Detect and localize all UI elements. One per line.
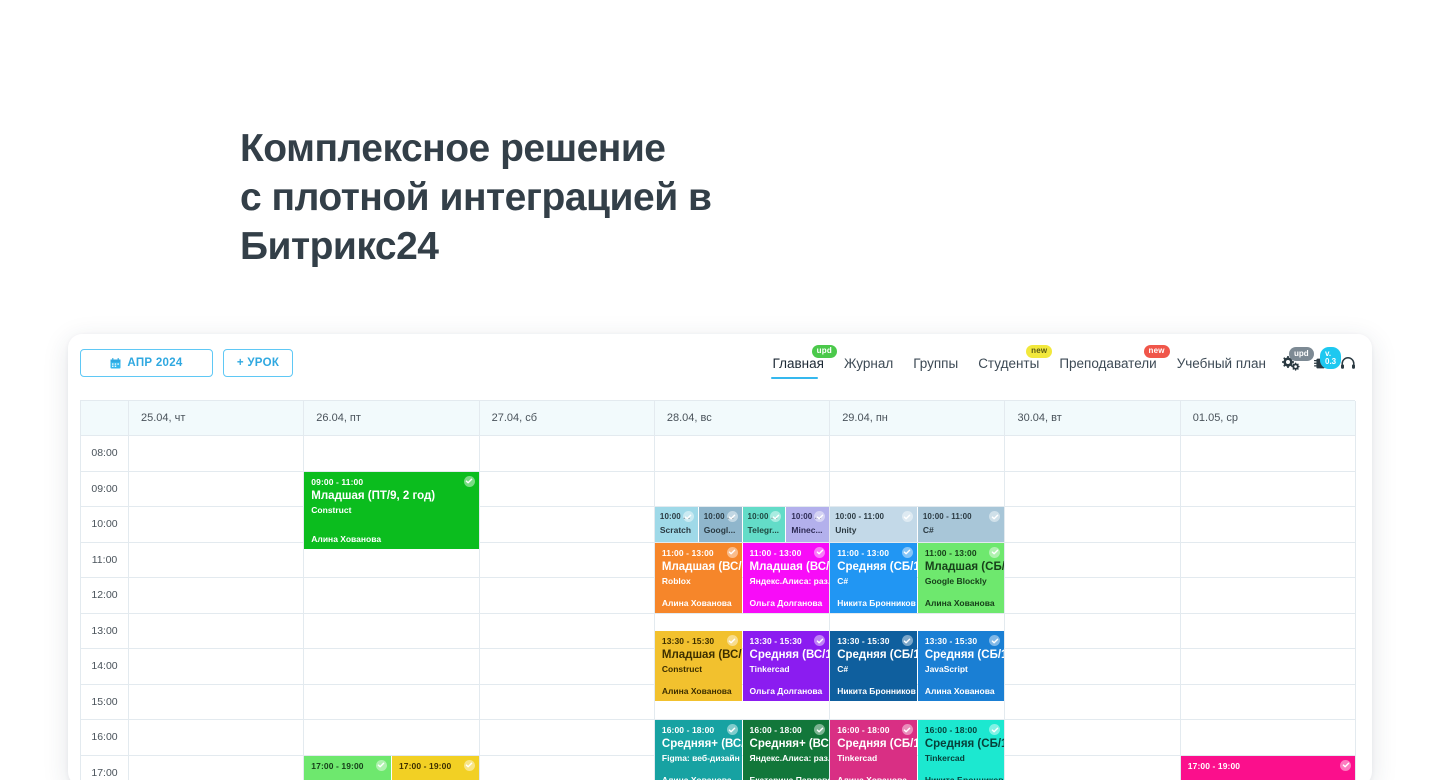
event-teacher: Алина Хованова	[662, 686, 735, 697]
calendar-slot[interactable]	[480, 543, 655, 579]
event-confirmed-check-icon[interactable]	[683, 511, 694, 522]
event-time: 13:30 - 15:30	[750, 636, 823, 647]
event-course: JavaScript	[925, 663, 998, 675]
event-course: Tinkercad	[925, 752, 998, 764]
event-confirmed-check-icon[interactable]	[814, 547, 825, 558]
event-time: 16:00 - 18:00	[750, 725, 823, 736]
calendar-event[interactable]: 10:00 - 11:00Unity	[830, 507, 917, 542]
event-group: Средняя (СБ/1...	[837, 737, 910, 752]
day-column-header-5[interactable]: 29.04, пн	[830, 401, 1005, 436]
time-label: 12:00	[81, 578, 129, 614]
nav-item-label: Преподаватели	[1059, 356, 1156, 371]
event-course: Яндекс.Алиса: раз...	[750, 752, 823, 764]
event-confirmed-check-icon[interactable]	[464, 476, 475, 487]
calendar-slot[interactable]	[480, 578, 655, 614]
nav-item-2[interactable]: Журнал	[834, 348, 903, 378]
page-title-line-2: с плотной интеграцией в	[240, 173, 860, 222]
event-confirmed-check-icon[interactable]	[727, 511, 738, 522]
calendar-row: 08:00	[81, 436, 1355, 472]
calendar-slot[interactable]	[830, 436, 1005, 472]
event-confirmed-check-icon[interactable]	[814, 724, 825, 735]
time-label: 13:00	[81, 614, 129, 650]
day-column-label: 27.04, сб	[492, 412, 537, 424]
calendar-slot[interactable]	[1005, 436, 1180, 472]
event-teacher: Никита Бронников	[837, 686, 910, 697]
nav-item-5[interactable]: Преподавателиnew	[1049, 348, 1166, 378]
event-confirmed-check-icon[interactable]	[1340, 760, 1351, 771]
calendar-slot[interactable]	[1005, 649, 1180, 685]
calendar-event[interactable]: 13:30 - 15:30Младшая (ВС/...ConstructАли…	[655, 631, 742, 701]
event-teacher: Екатерина Павлова	[750, 775, 823, 780]
event-teacher: Алина Хованова	[925, 686, 998, 697]
calendar-slot[interactable]	[304, 614, 479, 650]
add-lesson-button[interactable]: + УРОК	[223, 349, 293, 377]
event-course: Яндекс.Алиса: раз...	[750, 575, 823, 587]
calendar-event[interactable]: 13:30 - 15:30Средняя (СБ/1...C#Никита Бр…	[830, 631, 917, 701]
app-toolbar: АПР 2024 + УРОК ГлавнаяupdЖурналГруппыСт…	[68, 334, 1372, 398]
event-time: 11:00 - 13:00	[925, 548, 998, 559]
calendar-event[interactable]: 16:00 - 18:00Средняя (СБ/1...TinkercadАл…	[830, 720, 917, 780]
calendar-event[interactable]: 17:00 - 19:00	[392, 756, 479, 780]
calendar-slot[interactable]	[1005, 472, 1180, 508]
event-group: Младшая (ВС/...	[662, 648, 735, 663]
event-group: Средняя+ (ВС/...	[662, 737, 735, 752]
calendar-slot[interactable]	[1005, 614, 1180, 650]
event-confirmed-check-icon[interactable]	[989, 511, 1000, 522]
event-time: 10:00 - 11:00	[923, 511, 1000, 522]
event-group: Младшая (ВС/...	[750, 560, 823, 575]
event-teacher: Алина Хованова	[837, 775, 910, 780]
event-course: Tinkercad	[750, 663, 823, 675]
calendar-slot[interactable]	[480, 685, 655, 721]
time-label: 17:00	[81, 756, 129, 780]
month-picker-label: АПР 2024	[127, 357, 182, 369]
time-label: 10:00	[81, 507, 129, 543]
calendar-slot[interactable]	[1005, 685, 1180, 721]
event-time: 16:00 - 18:00	[662, 725, 735, 736]
calendar-header-row: 25.04, чт26.04, пт27.04, сб28.04, вс29.0…	[81, 401, 1355, 436]
event-course: C#	[923, 524, 1000, 536]
calendar-event[interactable]: 13:30 - 15:30Средняя (ВС/1...TinkercadОл…	[743, 631, 830, 701]
microchip-icon[interactable]: v. 0.3	[1307, 348, 1334, 378]
calendar-slot[interactable]	[129, 720, 304, 756]
calendar-slot[interactable]	[1181, 649, 1356, 685]
day-column-label: 01.05, ср	[1193, 412, 1238, 424]
calendar-event[interactable]: 10:00 ...Googl...	[699, 507, 742, 542]
event-time: 13:30 - 15:30	[662, 636, 735, 647]
page-root: Комплексное решение с плотной интеграцие…	[0, 0, 1440, 780]
event-group: Средняя (ВС/1...	[750, 648, 823, 663]
day-column-header-1[interactable]: 25.04, чт	[129, 401, 304, 436]
nav-item-4[interactable]: Студентыnew	[968, 348, 1049, 378]
event-course: Construct	[662, 663, 735, 675]
event-confirmed-check-icon[interactable]	[989, 635, 1000, 646]
event-time: 11:00 - 13:00	[750, 548, 823, 559]
calendar-slot[interactable]	[480, 614, 655, 650]
event-teacher: Алина Хованова	[311, 534, 471, 545]
settings-gears-icon[interactable]: upd	[1276, 348, 1307, 378]
calendar-slot[interactable]	[304, 685, 479, 721]
calendar-slot[interactable]	[304, 649, 479, 685]
event-time: 11:00 - 13:00	[662, 548, 735, 559]
event-teacher: Ольга Долганова	[750, 598, 823, 609]
day-column-header-2[interactable]: 26.04, пт	[304, 401, 479, 436]
day-column-label: 30.04, вт	[1017, 412, 1061, 424]
calendar-slot[interactable]	[1005, 543, 1180, 579]
event-course: Minec...	[791, 524, 824, 536]
week-calendar: 25.04, чт26.04, пт27.04, сб28.04, вс29.0…	[80, 400, 1355, 780]
nav-item-1[interactable]: Главнаяupd	[763, 348, 834, 378]
calendar-slot[interactable]	[1181, 720, 1356, 756]
calendar-slot[interactable]	[304, 720, 479, 756]
event-course: Google Blockly	[925, 575, 998, 587]
event-group: Средняя (СБ/1...	[837, 648, 910, 663]
calendar-slot[interactable]	[1005, 756, 1180, 780]
month-picker-button[interactable]: АПР 2024	[80, 349, 213, 377]
calendar-slot[interactable]	[1005, 578, 1180, 614]
calendar-slot[interactable]	[129, 543, 304, 579]
event-course: Scratch	[660, 524, 693, 536]
nav-item-6[interactable]: Учебный план	[1167, 348, 1276, 378]
event-confirmed-check-icon[interactable]	[902, 635, 913, 646]
calendar-slot[interactable]	[129, 436, 304, 472]
event-course: Unity	[835, 524, 912, 536]
event-time: 10:00 - 11:00	[835, 511, 912, 522]
calendar-slot[interactable]	[480, 756, 655, 780]
event-course: C#	[837, 663, 910, 675]
calendar-slot[interactable]	[1181, 472, 1356, 508]
event-group: Младшая (ПТ/9, 2 год)	[311, 489, 471, 504]
day-column-label: 29.04, пн	[842, 412, 888, 424]
page-title: Комплексное решение с плотной интеграцие…	[240, 124, 860, 271]
time-label: 14:00	[81, 649, 129, 685]
event-time: 16:00 - 18:00	[837, 725, 910, 736]
event-confirmed-check-icon[interactable]	[989, 724, 1000, 735]
calendar-slot[interactable]	[1181, 578, 1356, 614]
time-label: 15:00	[81, 685, 129, 721]
day-column-label: 28.04, вс	[667, 412, 712, 424]
nav-item-label: Учебный план	[1177, 356, 1266, 371]
headset-support-icon[interactable]	[1334, 348, 1362, 378]
calendar-slot[interactable]	[1181, 543, 1356, 579]
day-column-label: 25.04, чт	[141, 412, 185, 424]
event-course: Roblox	[662, 575, 735, 587]
event-time: 17:00 - 19:00	[399, 761, 472, 772]
nav-item-label: Журнал	[844, 356, 893, 371]
calendar-slot[interactable]	[1181, 436, 1356, 472]
event-time: 16:00 - 18:00	[925, 725, 998, 736]
event-course: Telegr...	[748, 524, 781, 536]
day-column-header-3[interactable]: 27.04, сб	[480, 401, 655, 436]
calendar-slot[interactable]	[480, 507, 655, 543]
calendar-event[interactable]: 17:00 - 19:00	[304, 756, 391, 780]
event-teacher: Никита Бронников	[925, 775, 998, 780]
calendar-slot[interactable]	[480, 472, 655, 508]
main-navigation: ГлавнаяupdЖурналГруппыСтудентыnewПрепода…	[763, 348, 1362, 378]
calendar-event[interactable]: 16:00 - 18:00Средняя+ (ВС/...Figma: веб-…	[655, 720, 742, 780]
calendar-event[interactable]: 16:00 - 18:00Средняя (СБ/1...TinkercadНи…	[918, 720, 1005, 780]
calendar-slot[interactable]	[129, 649, 304, 685]
event-confirmed-check-icon[interactable]	[902, 724, 913, 735]
event-confirmed-check-icon[interactable]	[464, 760, 475, 771]
calendar-slot[interactable]	[1181, 507, 1356, 543]
calendar-slot[interactable]	[129, 685, 304, 721]
nav-item-label: Студенты	[978, 356, 1039, 371]
event-teacher: Никита Бронников	[837, 598, 910, 609]
event-group: Средняя+ (ВС/...	[750, 737, 823, 752]
event-course: Construct	[311, 504, 471, 516]
calendar-slot[interactable]	[830, 472, 1005, 508]
event-confirmed-check-icon[interactable]	[989, 547, 1000, 558]
event-confirmed-check-icon[interactable]	[902, 511, 913, 522]
day-column-header-7[interactable]: 01.05, ср	[1181, 401, 1356, 436]
time-label: 08:00	[81, 436, 129, 472]
calendar-slot[interactable]	[480, 649, 655, 685]
calendar-slot[interactable]	[129, 578, 304, 614]
event-course: Figma: веб-дизайн	[662, 752, 735, 764]
time-label: 16:00	[81, 720, 129, 756]
calendar-slot[interactable]	[480, 720, 655, 756]
calendar-slot[interactable]	[129, 756, 304, 780]
page-title-line-3: Битрикс24	[240, 222, 860, 271]
time-column-header	[81, 401, 129, 436]
event-group: Младшая (ВС/...	[662, 560, 735, 575]
calendar-icon	[110, 358, 121, 369]
event-confirmed-check-icon[interactable]	[376, 760, 387, 771]
event-teacher: Ольга Долганова	[750, 686, 823, 697]
event-time: 13:30 - 15:30	[837, 636, 910, 647]
event-time: 11:00 - 13:00	[837, 548, 910, 559]
day-column-label: 26.04, пт	[316, 412, 361, 424]
calendar-event[interactable]: 10:00 ...Scratch	[655, 507, 698, 542]
event-confirmed-check-icon[interactable]	[814, 511, 825, 522]
time-label: 11:00	[81, 543, 129, 579]
event-course: C#	[837, 575, 910, 587]
event-group: Младшая (СБ/...	[925, 560, 998, 575]
calendar-event[interactable]: 13:30 - 15:30Средняя (СБ/1...JavaScriptА…	[918, 631, 1005, 701]
calendar-event[interactable]: 11:00 - 13:00Младшая (ВС/...RobloxАлина …	[655, 543, 742, 613]
event-time: 13:30 - 15:30	[925, 636, 998, 647]
event-teacher: Алина Хованова	[662, 775, 735, 780]
calendar-slot[interactable]	[129, 614, 304, 650]
calendar-slot[interactable]	[304, 578, 479, 614]
day-column-header-6[interactable]: 30.04, вт	[1005, 401, 1180, 436]
calendar-body: 08:0009:0010:0011:0012:0013:0014:0015:00…	[81, 436, 1355, 780]
day-column-header-4[interactable]: 28.04, вс	[655, 401, 830, 436]
event-confirmed-check-icon[interactable]	[727, 547, 738, 558]
calendar-slot[interactable]	[129, 472, 304, 508]
event-confirmed-check-icon[interactable]	[902, 547, 913, 558]
app-window-card: АПР 2024 + УРОК ГлавнаяupdЖурналГруппыСт…	[68, 334, 1372, 780]
calendar-event[interactable]: 17:00 - 19:00	[1181, 756, 1355, 780]
calendar-row: 09:00	[81, 472, 1355, 508]
calendar-slot[interactable]	[1005, 720, 1180, 756]
calendar-event[interactable]: 11:00 - 13:00Младшая (ВС/...Яндекс.Алиса…	[743, 543, 830, 613]
calendar-slot[interactable]	[1181, 685, 1356, 721]
calendar-event[interactable]: 09:00 - 11:00Младшая (ПТ/9, 2 год)Constr…	[304, 472, 478, 549]
time-label: 09:00	[81, 472, 129, 508]
calendar-slot[interactable]	[655, 472, 830, 508]
add-lesson-label: + УРОК	[237, 357, 279, 369]
calendar-event[interactable]: 10:00 - 11:00C#	[918, 507, 1005, 542]
event-confirmed-check-icon[interactable]	[727, 635, 738, 646]
event-time: 17:00 - 19:00	[1188, 761, 1348, 772]
event-group: Средняя (СБ/1...	[837, 560, 910, 575]
calendar-event[interactable]: 11:00 - 13:00Младшая (СБ/...Google Block…	[918, 543, 1005, 613]
calendar-slot[interactable]	[1181, 614, 1356, 650]
calendar-slot[interactable]	[304, 436, 479, 472]
event-time: 17:00 - 19:00	[311, 761, 384, 772]
event-course: Tinkercad	[837, 752, 910, 764]
calendar-event[interactable]: 11:00 - 13:00Средняя (СБ/1...C#Никита Бр…	[830, 543, 917, 613]
event-teacher: Алина Хованова	[662, 598, 735, 609]
nav-item-label: Главная	[773, 356, 824, 371]
calendar-event[interactable]: 10:00 ...Minec...	[786, 507, 829, 542]
calendar-event[interactable]: 10:00 ...Telegr...	[743, 507, 786, 542]
event-teacher: Алина Хованова	[925, 598, 998, 609]
nav-item-3[interactable]: Группы	[903, 348, 968, 378]
event-confirmed-check-icon[interactable]	[727, 724, 738, 735]
event-group: Средняя (СБ/1...	[925, 648, 998, 663]
calendar-slot[interactable]	[129, 507, 304, 543]
nav-item-label: Группы	[913, 356, 958, 371]
event-confirmed-check-icon[interactable]	[770, 511, 781, 522]
calendar-slot[interactable]	[480, 436, 655, 472]
event-time: 09:00 - 11:00	[311, 477, 471, 488]
event-course: Googl...	[704, 524, 737, 536]
event-confirmed-check-icon[interactable]	[814, 635, 825, 646]
calendar-event[interactable]: 16:00 - 18:00Средняя+ (ВС/...Яндекс.Алис…	[743, 720, 830, 780]
event-group: Средняя (СБ/1...	[925, 737, 998, 752]
calendar-slot[interactable]	[1005, 507, 1180, 543]
calendar-slot[interactable]	[655, 436, 830, 472]
page-title-line-1: Комплексное решение	[240, 124, 860, 173]
